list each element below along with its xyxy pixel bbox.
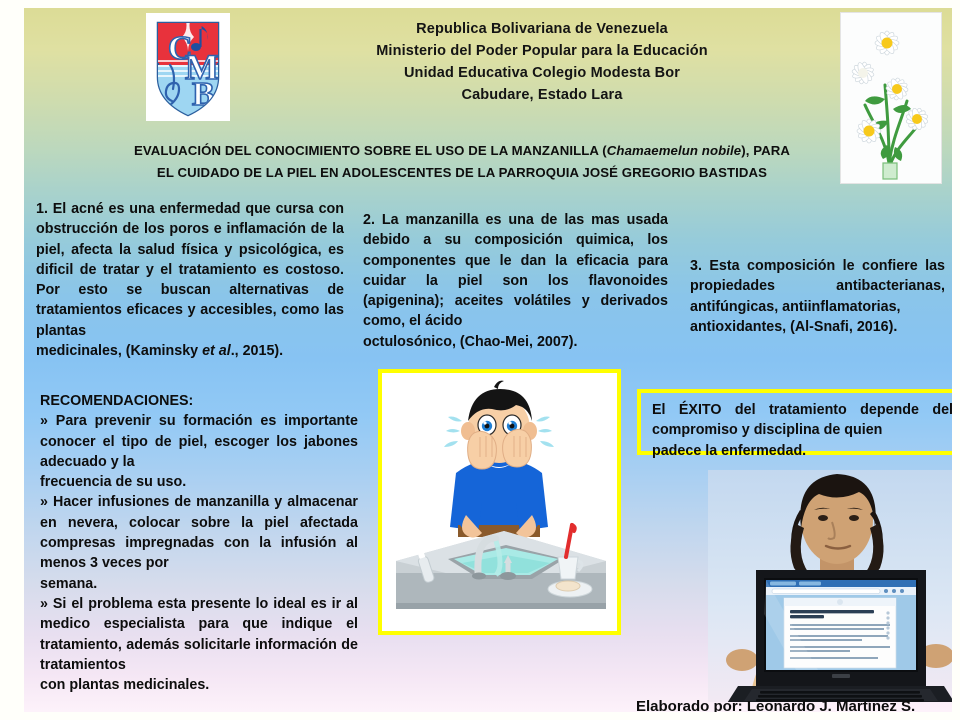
poster-title: EVALUACIÓN DEL CONOCIMIENTO SOBRE EL USO… (56, 140, 868, 184)
recommendations-heading: RECOMENDACIONES: (40, 391, 358, 411)
citation-prefix: medicinales, (Kaminsky (36, 343, 202, 359)
citation-suffix: ., 2015). (231, 343, 283, 359)
student-with-laptop-icon (708, 470, 952, 702)
recommendation-item-1-body: » Para prevenir su formación es importan… (40, 413, 358, 470)
paragraph-manzanilla: 2. La manzanilla es una de las mas usada… (363, 210, 668, 352)
author-photo (708, 470, 952, 702)
paragraph-propiedades-citation: antioxidantes, (Al-Snafi, 2016). (690, 317, 945, 337)
svg-text:B: B (192, 76, 215, 113)
recommendations-block: RECOMENDACIONES: » Para prevenir su form… (40, 391, 358, 695)
institution-line-3: Unidad Educativa Colegio Modesta Bor (262, 62, 822, 84)
recommendation-item-3-body: » Si el problema esta presente lo ideal … (40, 596, 358, 673)
crest-icon: C M B (146, 13, 230, 121)
title-line-1-prefix: EVALUACIÓN DEL CONOCIMIENTO SOBRE EL USO… (134, 143, 607, 158)
school-crest-logo: C M B (146, 13, 230, 121)
poster-canvas: C M B Republica Bolivariana de Venezuela… (24, 8, 952, 712)
species-name: Chamaemelun nobile (607, 143, 741, 158)
paragraph-manzanilla-body: 2. La manzanilla es una de las mas usada… (363, 212, 668, 329)
recommendation-item-1-tail: frecuencia de su uso. (40, 472, 358, 492)
institution-line-1: Republica Bolivariana de Venezuela (262, 18, 822, 40)
citation-etal: et al (202, 343, 231, 359)
poster-header: C M B Republica Bolivariana de Venezuela… (24, 8, 952, 128)
recommendation-item-2: » Hacer infusiones de manzanilla y almac… (40, 492, 358, 593)
paragraph-acne-citation: medicinales, (Kaminsky et al., 2015). (36, 341, 344, 361)
paragraph-manzanilla-citation: octulosónico, (Chao-Mei, 2007). (363, 332, 668, 352)
boy-washing-face-figure (378, 369, 621, 635)
paragraph-propiedades-body: 3. Esta composición le confiere las prop… (690, 258, 945, 315)
recommendation-item-1: » Para prevenir su formación es importan… (40, 411, 358, 492)
institution-line-2: Ministerio del Poder Popular para la Edu… (262, 40, 822, 62)
institution-header-text: Republica Bolivariana de Venezuela Minis… (262, 18, 822, 106)
title-line-1: EVALUACIÓN DEL CONOCIMIENTO SOBRE EL USO… (56, 140, 868, 162)
paragraph-propiedades: 3. Esta composición le confiere las prop… (690, 256, 945, 337)
paragraph-acne: 1. El acné es una enfermedad que cursa c… (36, 199, 344, 361)
title-line-1-suffix: ), PARA (741, 143, 790, 158)
institution-line-4: Cabudare, Estado Lara (262, 84, 822, 106)
recommendation-item-3: » Si el problema esta presente lo ideal … (40, 594, 358, 695)
highlight-body: El ÉXITO del tratamiento depende del com… (652, 402, 952, 438)
recommendation-item-2-tail: semana. (40, 574, 358, 594)
author-credit: Elaborado por: Leonardo J. Martínez S. (636, 698, 952, 712)
paragraph-acne-body: 1. El acné es una enfermedad que cursa c… (36, 201, 344, 339)
highlight-box-exito: El ÉXITO del tratamiento depende del com… (637, 389, 952, 455)
boy-washing-face-icon (382, 373, 617, 631)
recommendation-item-2-body: » Hacer infusiones de manzanilla y almac… (40, 494, 358, 571)
poster-root: C M B Republica Bolivariana de Venezuela… (0, 0, 960, 720)
highlight-tail: padece la enfermedad. (652, 441, 952, 461)
title-line-2: EL CUIDADO DE LA PIEL EN ADOLESCENTES DE… (56, 162, 868, 184)
recommendation-item-3-tail: con plantas medicinales. (40, 675, 358, 695)
